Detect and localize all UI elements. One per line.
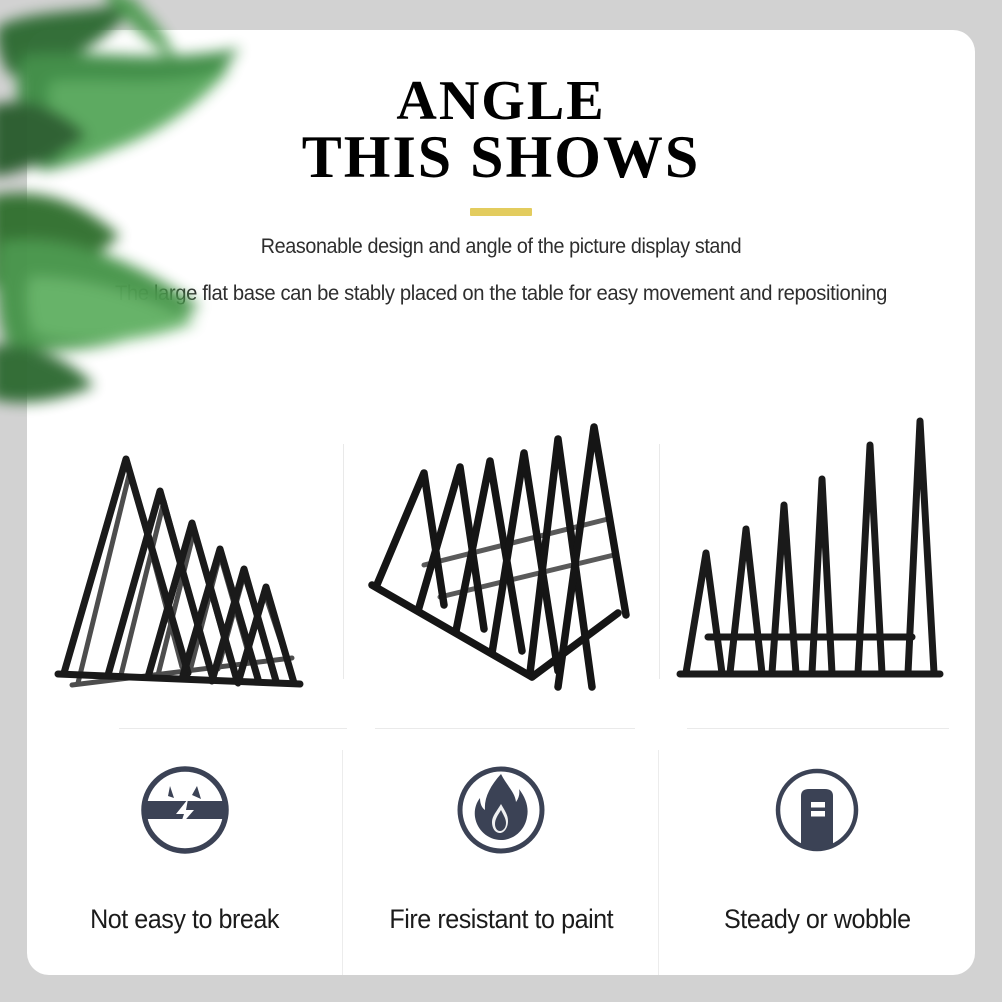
feature-item-not-easy-to-break: Not easy to break <box>27 742 343 975</box>
product-horizontal-divider-2 <box>375 728 635 729</box>
feature-item-fire-resistant: Fire resistant to paint <box>343 742 659 975</box>
subtitle-line-1: Reasonable design and angle of the pictu… <box>55 230 946 263</box>
page-title-line-1: ANGLE <box>27 72 975 130</box>
angled-rack-descending-triangles-icon <box>42 415 328 715</box>
front-rack-ascending-dividers-icon <box>672 415 962 715</box>
product-vertical-divider-1 <box>343 444 344 679</box>
product-vertical-divider-2 <box>659 444 660 679</box>
product-info-card: ANGLE THIS SHOWS Reasonable design and a… <box>27 30 975 975</box>
feature-row: Not easy to break Fire resistant to pain… <box>27 742 975 975</box>
title-divider-bar <box>470 208 532 216</box>
product-horizontal-divider-1 <box>119 728 347 729</box>
steady-base-icon <box>767 760 867 860</box>
feature-item-steady-or-wobble: Steady or wobble <box>659 742 975 975</box>
infographic-page: ANGLE THIS SHOWS Reasonable design and a… <box>0 0 1002 1002</box>
page-title-line-2: THIS SHOWS <box>27 126 975 188</box>
product-image-row <box>27 392 975 737</box>
product-image-1 <box>27 392 343 737</box>
product-image-3 <box>659 392 975 737</box>
header-section: ANGLE THIS SHOWS Reasonable design and a… <box>27 30 975 310</box>
product-image-2 <box>343 392 659 737</box>
feature-label-2: Fire resistant to paint <box>389 904 613 935</box>
break-resistant-icon <box>135 760 235 860</box>
subtitle-line-2: The large flat base can be stably placed… <box>55 277 946 310</box>
feature-label-3: Steady or wobble <box>724 904 911 935</box>
feature-label-1: Not easy to break <box>91 904 280 935</box>
flame-icon <box>451 760 551 860</box>
tilted-rack-equal-triangles-icon <box>356 415 646 715</box>
product-horizontal-divider-3 <box>687 728 949 729</box>
